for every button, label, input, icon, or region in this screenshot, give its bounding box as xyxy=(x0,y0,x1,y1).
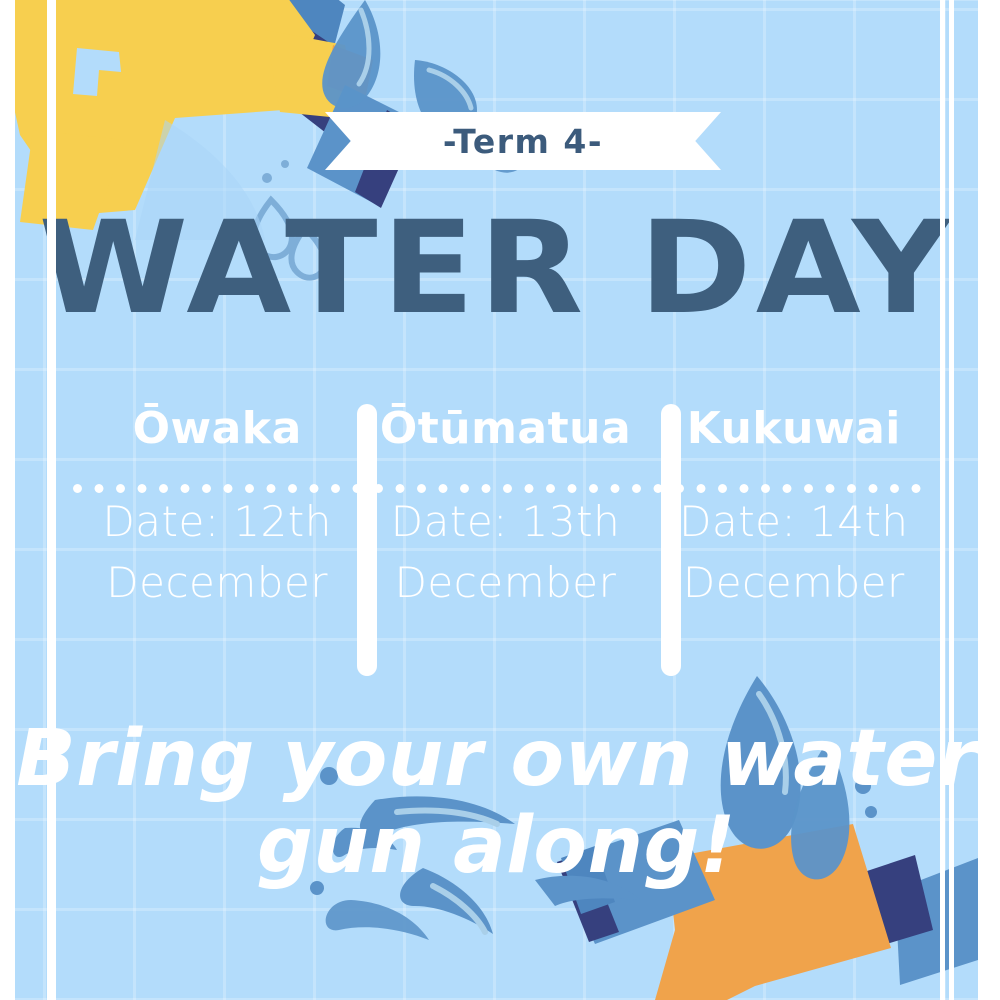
schedule-date-month: December xyxy=(395,558,617,607)
term-banner: -Term 4- xyxy=(325,112,721,170)
schedule-column-owaka: Ōwaka Date: 12th December xyxy=(73,398,361,688)
frame-margin-left xyxy=(0,0,15,1000)
schedule-date-month: December xyxy=(683,558,905,607)
schedule-date-month: December xyxy=(106,558,328,607)
schedule-column-date: Date: 14th December xyxy=(650,492,938,614)
column-separator-right xyxy=(661,404,681,676)
term-banner-label: -Term 4- xyxy=(443,122,603,161)
call-to-action-line-1: Bring your own water xyxy=(15,716,978,803)
poster-background: -Term 4- WATER DAY Ōwaka Date: 12th Dece… xyxy=(15,0,978,1000)
frame-rule-left-inner xyxy=(47,0,56,1000)
dotted-divider xyxy=(73,484,921,493)
schedule-column-name: Kukuwai xyxy=(650,406,938,452)
frame-margin-right xyxy=(978,0,1000,1000)
schedule-columns: Ōwaka Date: 12th December Ōtūmatua Date:… xyxy=(73,398,938,688)
call-to-action: Bring your own water gun along! xyxy=(15,716,978,891)
schedule-date-day: Date: 13th xyxy=(391,497,620,546)
frame-rule-right-outer xyxy=(949,0,954,1000)
schedule-date-day: Date: 14th xyxy=(679,497,908,546)
call-to-action-line-2: gun along! xyxy=(15,803,978,890)
schedule-column-otumatua: Ōtūmatua Date: 13th December xyxy=(361,398,649,688)
poster-canvas: -Term 4- WATER DAY Ōwaka Date: 12th Dece… xyxy=(0,0,1000,1000)
schedule-column-kukuwai: Kukuwai Date: 14th December xyxy=(650,398,938,688)
schedule-column-name: Ōtūmatua xyxy=(361,406,649,452)
page-title: WATER DAY xyxy=(15,205,978,333)
schedule-column-date: Date: 13th December xyxy=(361,492,649,614)
column-separator-left xyxy=(357,404,377,676)
frame-rule-right-inner xyxy=(940,0,945,1000)
schedule-column-date: Date: 12th December xyxy=(73,492,361,614)
schedule-date-day: Date: 12th xyxy=(102,497,331,546)
schedule-column-name: Ōwaka xyxy=(73,406,361,452)
